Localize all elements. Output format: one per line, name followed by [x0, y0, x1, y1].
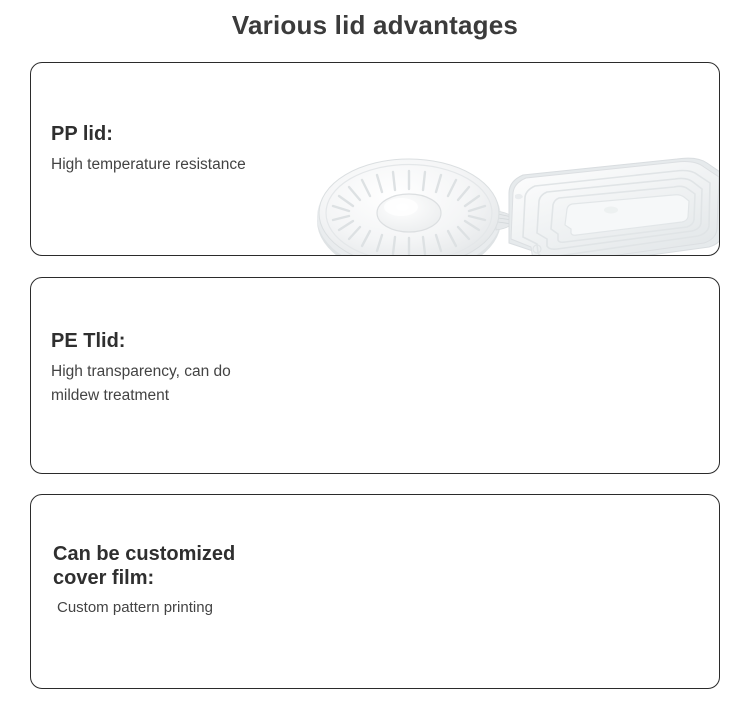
- card-gold-cover-film: Can be customized cover film: Custom pat…: [30, 494, 720, 689]
- card-pe-subtitle: High transparency, can do mildew treatme…: [51, 360, 321, 408]
- card-pp-text-block: PP lid: High temperature resistance: [51, 123, 321, 177]
- card-gold-heading: Can be customized cover film:: [53, 543, 313, 590]
- infographic-page: Various lid advantages PP lid: High temp…: [0, 0, 750, 713]
- card-pe-lid: PE Tlid: High transparency, can do milde…: [30, 277, 720, 474]
- rectangular-pp-lid-image: [501, 147, 720, 256]
- card-pe-heading: PE Tlid:: [51, 330, 321, 354]
- card-pp-subtitle: High temperature resistance: [51, 153, 321, 177]
- card-pp-lid: PP lid: High temperature resistance: [30, 62, 720, 256]
- card-gold-text-block: Can be customized cover film: Custom pat…: [53, 543, 313, 619]
- card-gold-subtitle: Custom pattern printing: [53, 596, 313, 619]
- page-title: Various lid advantages: [0, 10, 750, 41]
- card-pe-text-block: PE Tlid: High transparency, can do milde…: [51, 330, 321, 408]
- round-pp-lid-image: [313, 151, 513, 256]
- card-pp-heading: PP lid:: [51, 123, 321, 147]
